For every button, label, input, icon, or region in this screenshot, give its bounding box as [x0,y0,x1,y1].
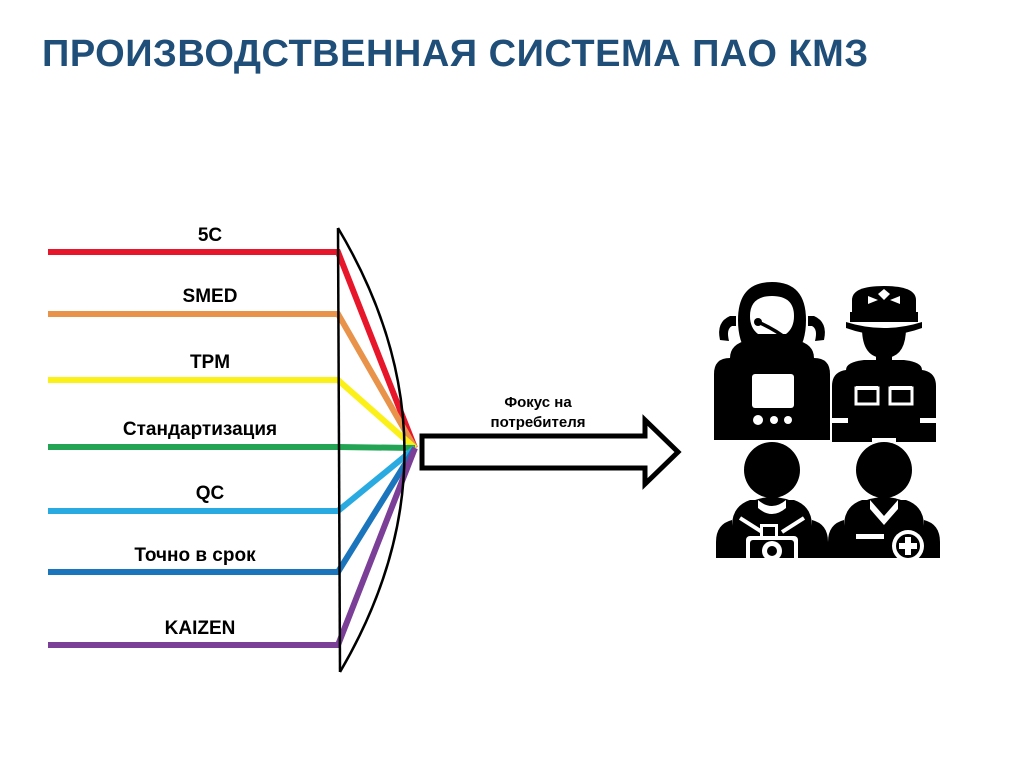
ray-label-7: KAIZEN [165,618,236,640]
arrow-caption-line-1: Фокус на [438,393,638,413]
ray-label-3: TPM [190,352,230,374]
arrow-caption-line-2: потребителя [438,413,638,433]
ray-5 [48,448,415,511]
ray-label-6: Точно в срок [134,545,255,567]
astronaut-figure [714,282,830,440]
ray-label-1: 5C [198,225,222,247]
ray-4 [48,447,415,448]
officer-figure [832,286,936,443]
ray-label-4: Стандартизация [123,419,277,441]
medic-figure [828,442,940,558]
ray-label-2: SMED [183,286,238,308]
people-group [706,278,968,558]
arrow-caption: Фокус на потребителя [438,393,638,434]
slide-canvas: ПРОИЗВОДСТВЕННАЯ СИСТЕМА ПАО КМЗ 5CSMEDT… [0,0,1024,767]
ray-label-5: QC [196,483,225,505]
rays-group [48,252,415,645]
photographer-figure [716,442,828,558]
lens-chord [338,228,340,672]
